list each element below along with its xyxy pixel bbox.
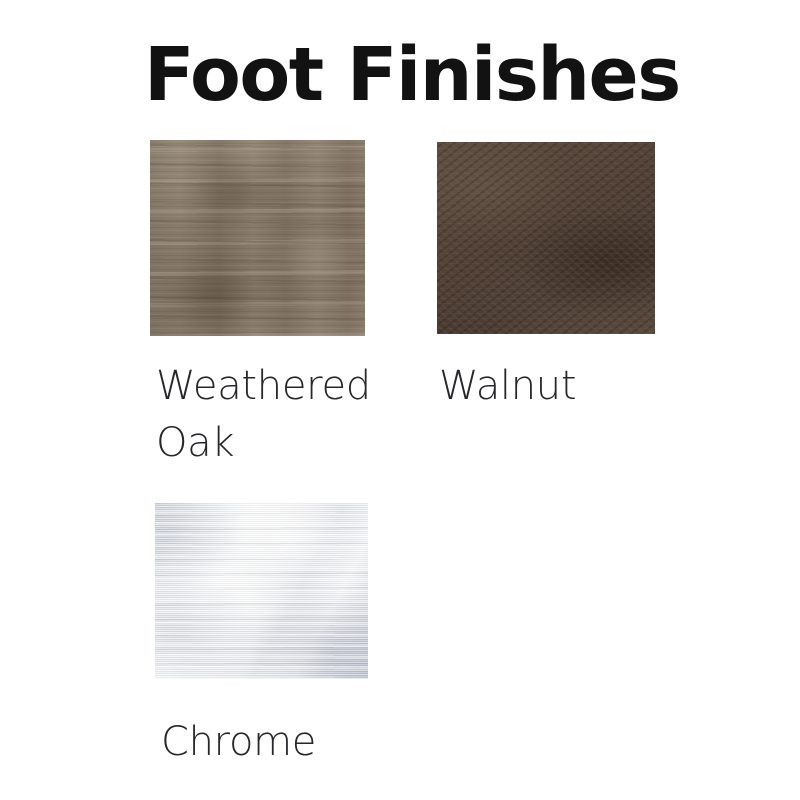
page-title: Foot Finishes	[144, 38, 680, 112]
wood-highlight-overlay	[262, 230, 365, 289]
chrome-label: Chrome	[161, 714, 421, 771]
wood-grain-overlay	[189, 167, 288, 218]
walnut-swatch[interactable]	[437, 142, 655, 334]
chrome-swatch[interactable]	[155, 503, 368, 679]
foot-finishes-panel: Foot Finishes Weathered Oak Walnut Chrom…	[0, 0, 800, 800]
weathered-oak-label: Weathered Oak	[156, 358, 416, 472]
walnut-label: Walnut	[439, 358, 689, 415]
weathered-oak-swatch[interactable]	[150, 140, 365, 336]
wood-shadow-overlay	[159, 262, 267, 329]
